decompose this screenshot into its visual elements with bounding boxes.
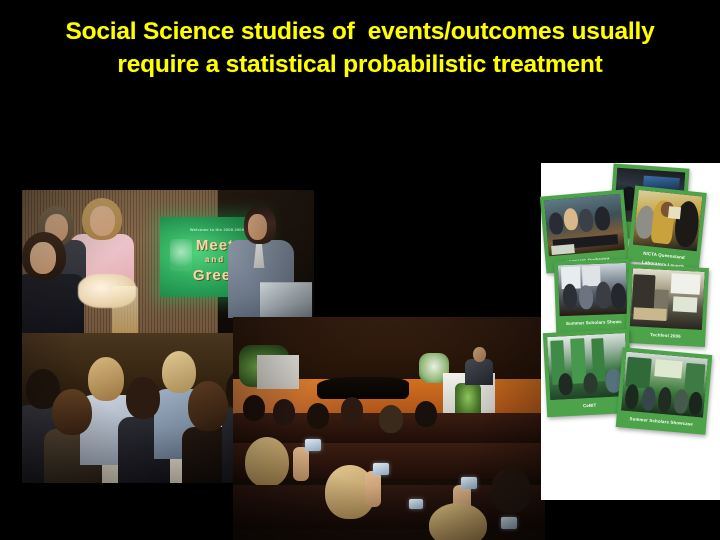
stage-display-board: [257, 355, 299, 389]
diner-head: [126, 377, 160, 419]
slide-title: Social Science studies of events/outcome…: [30, 16, 690, 81]
collage-card-thumbnail: [621, 352, 708, 418]
audience-head: [415, 401, 437, 427]
collage-card-nicta-qld: NICTA Queensland Laboratory Launch: [627, 185, 707, 268]
audience-head: [245, 437, 289, 487]
audience-head: [243, 395, 265, 421]
mobile-phone: [373, 463, 389, 475]
event-photo-collage-panel: ARTEMIS Orchestra Competition 2007 NICTA…: [541, 163, 720, 500]
attendee-3-body: [22, 274, 84, 338]
mobile-phone: [501, 517, 517, 529]
collage-card-thumbnail: [547, 333, 628, 400]
collage-card-summer-scholars-2: Summer Scholars Showcase: [616, 347, 713, 435]
speaker-face: [248, 214, 267, 240]
diner-head: [188, 381, 228, 431]
presentation-slide: Social Science studies of events/outcome…: [0, 0, 720, 540]
mobile-phone: [409, 499, 423, 509]
collage-card-thumbnail: [558, 263, 628, 316]
collage-card-thumbnail: [633, 190, 702, 251]
stage-speaker-head: [473, 347, 486, 362]
drink-container: [112, 286, 138, 338]
diner-head: [52, 389, 92, 435]
mobile-phone: [305, 439, 321, 451]
collage-card-caption: Techfest 2006: [629, 326, 702, 350]
diner-head: [88, 357, 124, 401]
lecture-hall-photo: [233, 317, 545, 540]
audience-head: [491, 467, 531, 513]
attendee-1-face: [90, 206, 115, 236]
audience-head: [341, 397, 363, 423]
stage-speaker-body: [465, 359, 493, 385]
raised-arm: [293, 447, 309, 481]
mobile-phone: [461, 477, 477, 489]
grand-piano: [317, 377, 409, 399]
audience-head: [307, 403, 329, 429]
collage-card-thumbnail: [630, 268, 705, 330]
collage-card-thumbnail: [544, 194, 625, 256]
collage-card-techfest: Techfest 2006: [625, 264, 709, 347]
audience-head: [379, 405, 403, 433]
audience-head: [273, 399, 295, 425]
attendee-3-face: [30, 242, 56, 274]
collage-card-summer-scholars-1: Summer Scholars Showc: [554, 259, 632, 334]
audience-head: [429, 503, 487, 540]
speaker-lectern: [260, 282, 312, 319]
diner-head: [162, 351, 196, 393]
raised-arm: [365, 471, 381, 507]
